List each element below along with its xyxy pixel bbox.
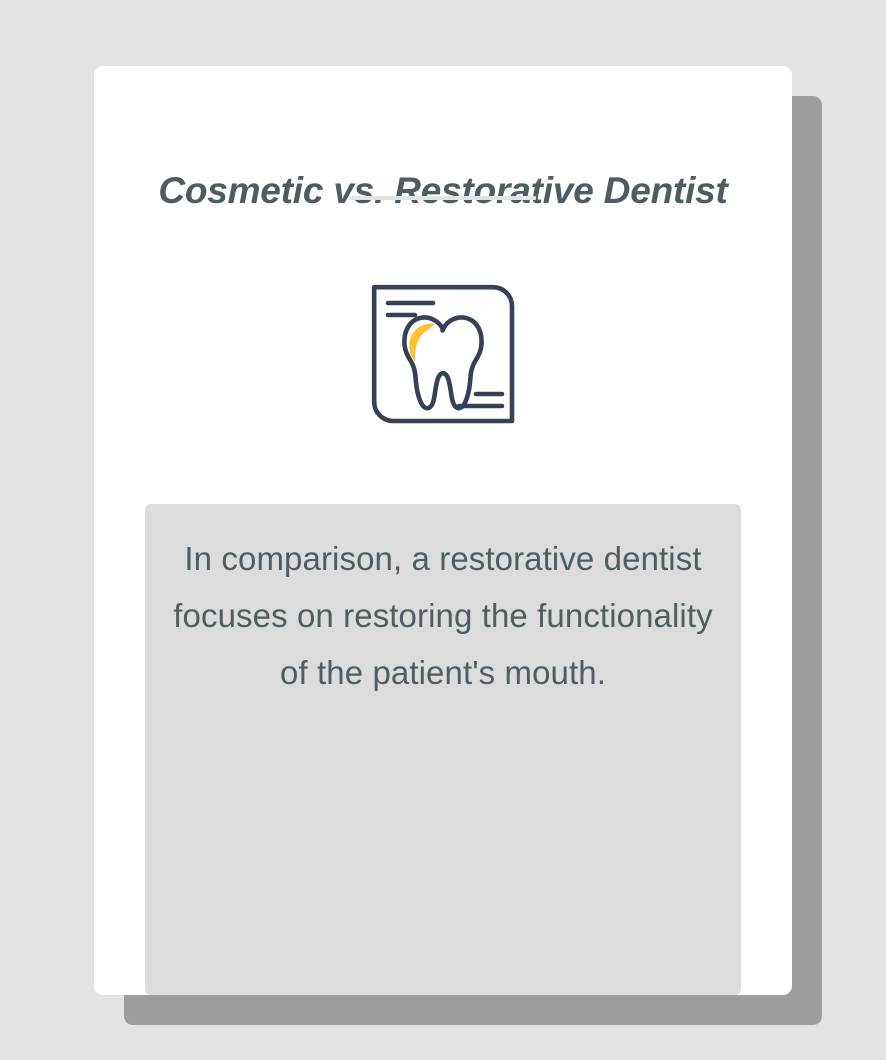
page-title: Cosmetic vs. Restorative Dentist [94,170,792,213]
dental-chart-tooth-icon [371,284,515,424]
content-card: Cosmetic vs. Restorative Dentist In comp… [94,66,792,995]
body-text: In comparison, a restorative dentist foc… [145,531,741,701]
title-divider [351,196,536,200]
body-text-panel: In comparison, a restorative dentist foc… [145,504,741,995]
slide-stage: Cosmetic vs. Restorative Dentist In comp… [0,0,886,1060]
